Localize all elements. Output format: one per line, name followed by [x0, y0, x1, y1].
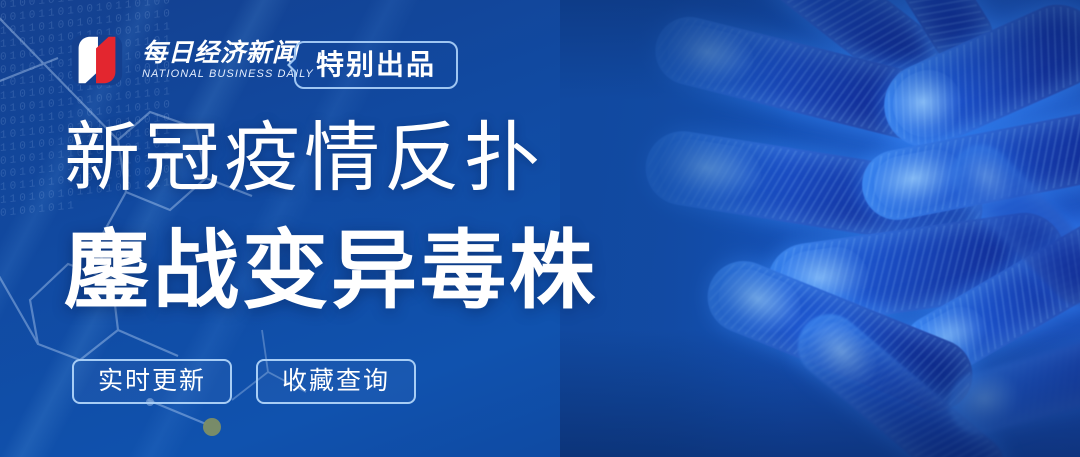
brand-lockup[interactable]: 每日经济新闻 NATIONAL BUSINESS DAILY — [66, 29, 314, 91]
headline-line-2: 鏖战变异毒株 — [64, 228, 598, 314]
action-button-row: 实时更新 收藏查询 — [72, 359, 416, 404]
badge-tail-inner-icon — [290, 58, 297, 72]
special-production-badge[interactable]: 特别出品 — [294, 41, 458, 89]
live-update-button[interactable]: 实时更新 — [72, 359, 232, 404]
favorites-query-button[interactable]: 收藏查询 — [256, 359, 416, 404]
favorites-query-label: 收藏查询 — [282, 369, 390, 394]
banner-content: 每日经济新闻 NATIONAL BUSINESS DAILY 特别出品 新冠疫情… — [0, 0, 1080, 457]
nbd-monogram-icon — [66, 29, 128, 91]
headline-line-1: 新冠疫情反扑 — [64, 121, 544, 197]
badge-label: 特别出品 — [316, 51, 436, 79]
live-update-label: 实时更新 — [98, 369, 206, 394]
covid-variant-banner: 0100101101001011010010110100101101001011… — [0, 0, 1080, 457]
